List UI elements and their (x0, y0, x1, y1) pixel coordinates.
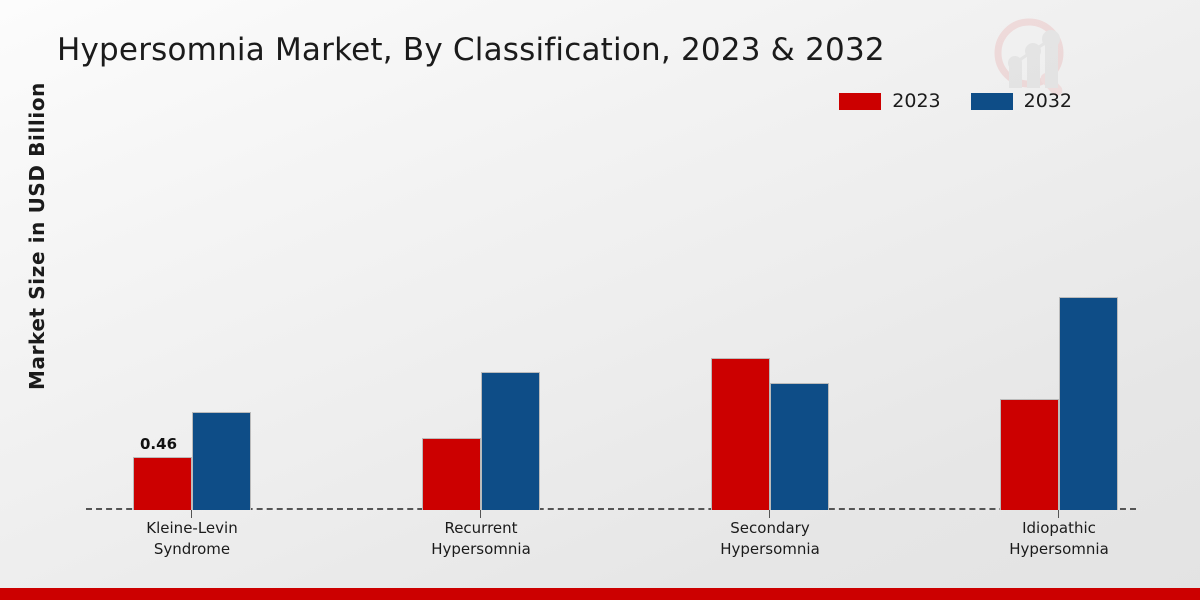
x-axis-label-recurrent-hypersomnia: Recurrent Hypersomnia (396, 518, 566, 560)
x-axis-label-line2: Hypersomnia (396, 539, 566, 560)
legend-item-2023[interactable]: 2023 (839, 90, 940, 112)
bar-2032-recurrent-hypersomnia[interactable] (481, 372, 540, 510)
x-axis-tick (1058, 510, 1059, 518)
bar-group-secondary-hypersomnia: Secondary Hypersomnia (711, 130, 829, 510)
x-axis-tick (191, 510, 192, 518)
legend-label-2023: 2023 (892, 90, 940, 112)
x-axis-label-line1: Idiopathic (974, 518, 1144, 539)
legend-item-2032[interactable]: 2032 (971, 90, 1072, 112)
x-axis-tick (480, 510, 481, 518)
chart-title: Hypersomnia Market, By Classification, 2… (57, 32, 885, 68)
legend-label-2032: 2032 (1024, 90, 1072, 112)
x-axis-label-kleine-levin-syndrome: Kleine-Levin Syndrome (107, 518, 277, 560)
footer-accent-bar (0, 588, 1200, 600)
x-axis-label-idiopathic-hypersomnia: Idiopathic Hypersomnia (974, 518, 1144, 560)
bar-2023-recurrent-hypersomnia[interactable] (422, 438, 481, 510)
x-axis-label-secondary-hypersomnia: Secondary Hypersomnia (685, 518, 855, 560)
x-axis-label-line1: Recurrent (396, 518, 566, 539)
bar-group-idiopathic-hypersomnia: Idiopathic Hypersomnia (1000, 130, 1118, 510)
bar-group-recurrent-hypersomnia: Recurrent Hypersomnia (422, 130, 540, 510)
x-axis-label-line2: Hypersomnia (685, 539, 855, 560)
legend-swatch-blue-icon (971, 93, 1013, 110)
bar-2023-kleine-levin-syndrome[interactable] (133, 457, 192, 510)
chart-figure: Hypersomnia Market, By Classification, 2… (0, 0, 1200, 600)
bar-group-kleine-levin-syndrome: 0.46 Kleine-Levin Syndrome (133, 130, 251, 510)
x-axis-label-line2: Hypersomnia (974, 539, 1144, 560)
bar-2032-secondary-hypersomnia[interactable] (770, 383, 829, 510)
plot-area: 0.46 Kleine-Levin Syndrome Recurrent Hyp… (86, 130, 1136, 510)
x-axis-tick (769, 510, 770, 518)
chart-legend: 2023 2032 (839, 90, 1072, 112)
legend-swatch-red-icon (839, 93, 881, 110)
y-axis-title: Market Size in USD Billion (25, 71, 49, 401)
bar-2023-idiopathic-hypersomnia[interactable] (1000, 399, 1059, 510)
x-axis-label-line2: Syndrome (107, 539, 277, 560)
x-axis-label-line1: Secondary (685, 518, 855, 539)
bar-2032-idiopathic-hypersomnia[interactable] (1059, 297, 1118, 510)
bar-2032-kleine-levin-syndrome[interactable] (192, 412, 251, 510)
x-axis-label-line1: Kleine-Levin (107, 518, 277, 539)
bar-value-2023-kleine-levin-syndrome: 0.46 (140, 435, 177, 453)
bar-2023-secondary-hypersomnia[interactable] (711, 358, 770, 510)
